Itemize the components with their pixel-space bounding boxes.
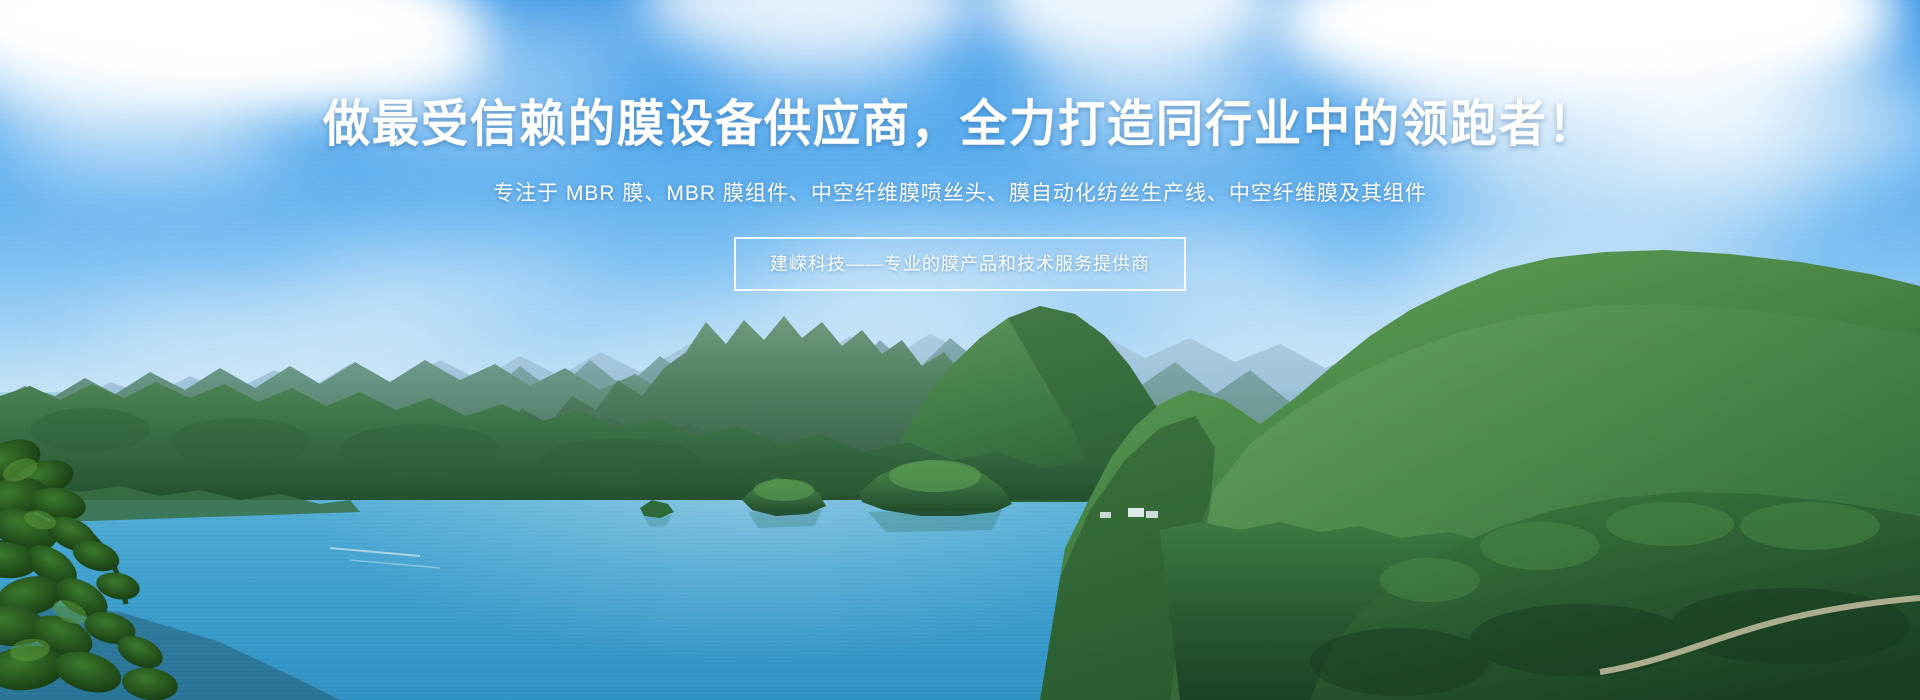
hero-badge-wrapper: 建嵘科技——专业的膜产品和技术服务提供商 [0,237,1920,291]
left-foreground-foliage [0,400,1920,700]
hero-tagline-badge[interactable]: 建嵘科技——专业的膜产品和技术服务提供商 [734,237,1186,291]
hero-banner: 做最受信赖的膜设备供应商，全力打造同行业中的领跑者！ 专注于 MBR 膜、MBR… [0,0,1920,700]
hero-text-block: 做最受信赖的膜设备供应商，全力打造同行业中的领跑者！ 专注于 MBR 膜、MBR… [0,0,1920,291]
hero-subtitle: 专注于 MBR 膜、MBR 膜组件、中空纤维膜喷丝头、膜自动化纺丝生产线、中空纤… [0,177,1920,207]
page-title: 做最受信赖的膜设备供应商，全力打造同行业中的领跑者！ [0,94,1920,156]
